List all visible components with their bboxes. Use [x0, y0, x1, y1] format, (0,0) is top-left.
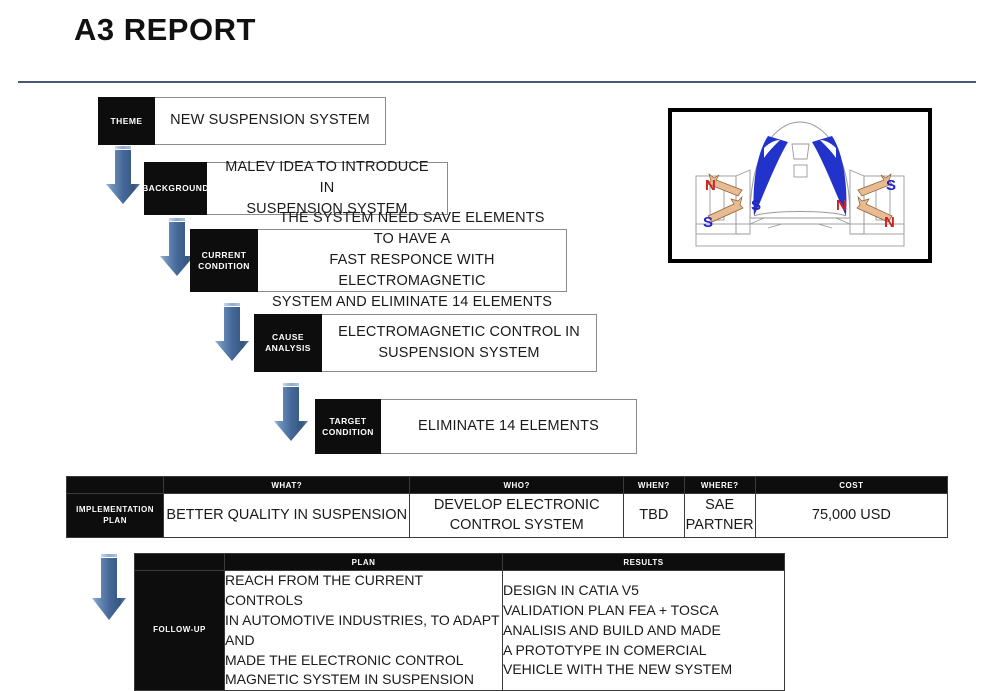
column-header-cost: COST [755, 477, 947, 494]
cell-cost: 75,000 USD [755, 494, 947, 538]
force-arrow-left-lower [708, 197, 743, 222]
cell-where: SAE PARTNER [684, 494, 755, 538]
flow-step-cause-analysis: CAUSE ANALYSIS ELECTROMAGNETIC CONTROL I… [254, 314, 597, 372]
pole-label-right-bottom: N [884, 214, 895, 231]
column-header-plan: PLAN [225, 554, 503, 571]
follow-up-table: PLAN RESULTS FOLLOW-UP REACH FROM THE CU… [134, 553, 785, 691]
cell-who: DEVELOP ELECTRONIC CONTROL SYSTEM [410, 494, 624, 538]
column-header-blank [135, 554, 225, 571]
column-header-where: WHERE? [684, 477, 755, 494]
flow-step-text: NEW SUSPENSION SYSTEM [155, 97, 386, 145]
flow-step-tag: BACKGROUND [144, 162, 207, 215]
cell-results: DESIGN IN CATIA V5 VALIDATION PLAN FEA +… [503, 571, 785, 691]
column-header-what: WHAT? [164, 477, 410, 494]
flow-arrow-1 [104, 146, 142, 211]
pole-label-left-middle: S [751, 197, 761, 214]
flow-step-theme: THEME NEW SUSPENSION SYSTEM [98, 97, 386, 145]
title-divider [18, 81, 976, 83]
table-header-row: PLAN RESULTS [135, 554, 785, 571]
flow-step-tag: CURRENT CONDITION [190, 229, 258, 292]
maglev-diagram-frame: N S S S N N [668, 108, 932, 263]
flow-step-tag: THEME [98, 97, 155, 145]
flow-step-tag: CAUSE ANALYSIS [254, 314, 322, 372]
flow-step-text: ELECTROMAGNETIC CONTROL IN SUSPENSION SY… [322, 314, 597, 372]
flow-arrow-5 [90, 554, 128, 627]
row-tag-follow-up: FOLLOW-UP [135, 571, 225, 691]
flow-arrow-3 [213, 303, 251, 368]
column-header-blank [67, 477, 164, 494]
column-header-when: WHEN? [624, 477, 684, 494]
table-row: IMPLEMENTATION PLAN BETTER QUALITY IN SU… [67, 494, 948, 538]
pole-label-right-middle: N [836, 197, 847, 214]
cell-plan: REACH FROM THE CURRENT CONTROLS IN AUTOM… [225, 571, 503, 691]
flow-step-text: ELIMINATE 14 ELEMENTS [381, 399, 637, 454]
maglev-diagram: N S S S N N [672, 112, 928, 259]
flow-step-tag: TARGET CONDITION [315, 399, 381, 454]
flow-arrow-4 [272, 383, 310, 448]
implementation-plan-table: WHAT? WHO? WHEN? WHERE? COST IMPLEMENTAT… [66, 476, 948, 538]
row-tag-implementation-plan: IMPLEMENTATION PLAN [67, 494, 164, 538]
cell-when: TBD [624, 494, 684, 538]
flow-step-target-condition: TARGET CONDITION ELIMINATE 14 ELEMENTS [315, 399, 637, 454]
pole-label-left-bottom: S [703, 214, 713, 231]
page-title: A3 REPORT [74, 12, 256, 48]
cell-what: BETTER QUALITY IN SUSPENSION [164, 494, 410, 538]
flow-step-current-condition: CURRENT CONDITION THE SYSTEM NEED SAVE E… [190, 229, 567, 292]
pole-label-right-top: S [886, 177, 896, 194]
pole-label-left-top: N [705, 177, 716, 194]
table-header-row: WHAT? WHO? WHEN? WHERE? COST [67, 477, 948, 494]
maglev-svg: N S S S N N [672, 112, 928, 259]
table-row: FOLLOW-UP REACH FROM THE CURRENT CONTROL… [135, 571, 785, 691]
flow-step-text: THE SYSTEM NEED SAVE ELEMENTS TO HAVE A … [258, 229, 567, 292]
column-header-results: RESULTS [503, 554, 785, 571]
column-header-who: WHO? [410, 477, 624, 494]
